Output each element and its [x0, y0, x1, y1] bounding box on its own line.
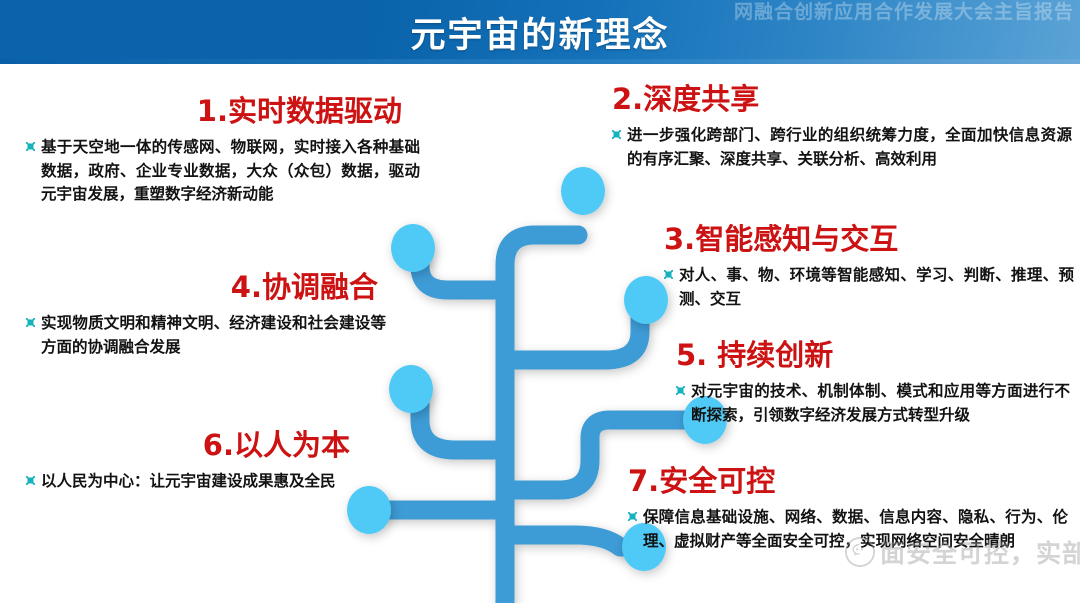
tree-branch-7 — [505, 535, 645, 547]
slide-header-banner: 网融合创新应用合作发展大会主旨报告 元宇宙的新理念 — [0, 0, 1080, 64]
section-heading-4: 4.协调融合 — [26, 272, 386, 302]
tree-node-3 — [624, 276, 668, 324]
section-heading-3: 3.智能感知与交互 — [664, 224, 1074, 254]
section-body-6: 以人民为中心：让元宇宙建设成果惠及全民 — [26, 470, 356, 493]
bullet-diamond-icon — [676, 386, 685, 395]
section-heading-5: 5. 持续创新 — [676, 340, 1070, 370]
bullet-diamond-icon — [664, 270, 673, 279]
tree-node-2 — [561, 167, 605, 215]
tree-branch-4 — [420, 390, 505, 450]
section-body-text-1: 基于天空地一体的传感网、物联网，实时接入各种基础数据，政府、企业专业数据，大众（… — [41, 138, 420, 203]
tree-branch-2 — [505, 235, 578, 460]
slide-canvas: 网融合创新应用合作发展大会主旨报告 元宇宙的新理念 — [0, 0, 1080, 603]
bullet-diamond-icon — [628, 512, 637, 521]
section-heading-6: 6.以人为本 — [26, 430, 356, 460]
section-block-7: 7.安全可控 保障信息基础设施、网络、数据、信息内容、隐私、行为、伦理、虚拟财产… — [628, 466, 1068, 553]
section-block-6: 6.以人为本 以人民为中心：让元宇宙建设成果惠及全民 — [26, 430, 356, 494]
tree-branch-3 — [505, 308, 640, 360]
section-block-1: 1.实时数据驱动 基于天空地一体的传感网、物联网，实时接入各种基础数据，政府、企… — [26, 96, 420, 206]
tree-node-1 — [391, 224, 435, 272]
bullet-diamond-icon — [612, 130, 621, 139]
section-heading-7: 7.安全可控 — [628, 466, 1068, 496]
section-body-text-6: 以人民为中心：让元宇宙建设成果惠及全民 — [41, 472, 336, 490]
section-block-5: 5. 持续创新 对元宇宙的技术、机制体制、模式和应用等方面进行不断探索，引领数字… — [676, 340, 1070, 427]
bullet-diamond-icon — [26, 476, 35, 485]
section-body-text-3: 对人、事、物、环境等智能感知、学习、判断、推理、预测、交互 — [679, 266, 1074, 307]
section-body-2: 进一步强化跨部门、跨行业的组织统筹力度，全面加快信息资源的有序汇聚、深度共享、关… — [612, 124, 1072, 171]
section-body-1: 基于天空地一体的传感网、物联网，实时接入各种基础数据，政府、企业专业数据，大众（… — [26, 136, 420, 206]
section-body-text-7: 保障信息基础设施、网络、数据、信息内容、隐私、行为、伦理、虚拟财产等全面安全可控… — [643, 508, 1068, 549]
tree-node-4 — [389, 365, 433, 413]
bullet-diamond-icon — [26, 318, 35, 327]
section-block-3: 3.智能感知与交互 对人、事、物、环境等智能感知、学习、判断、推理、预测、交互 — [664, 224, 1074, 311]
page-title: 元宇宙的新理念 — [0, 0, 1080, 64]
section-body-text-4: 实现物质文明和精神文明、经济建设和社会建设等方面的协调融合发展 — [41, 314, 386, 355]
section-heading-1: 1.实时数据驱动 — [26, 96, 420, 126]
section-body-5: 对元宇宙的技术、机制体制、模式和应用等方面进行不断探索，引领数字经济发展方式转型… — [676, 380, 1070, 427]
section-body-3: 对人、事、物、环境等智能感知、学习、判断、推理、预测、交互 — [664, 264, 1074, 311]
bullet-diamond-icon — [26, 142, 35, 151]
section-body-7: 保障信息基础设施、网络、数据、信息内容、隐私、行为、伦理、虚拟财产等全面安全可控… — [628, 506, 1068, 553]
section-body-text-2: 进一步强化跨部门、跨行业的组织统筹力度，全面加快信息资源的有序汇聚、深度共享、关… — [627, 126, 1072, 167]
section-block-4: 4.协调融合 实现物质文明和精神文明、经济建设和社会建设等方面的协调融合发展 — [26, 272, 386, 359]
section-heading-2: 2.深度共享 — [612, 84, 1072, 114]
section-body-text-5: 对元宇宙的技术、机制体制、模式和应用等方面进行不断探索，引领数字经济发展方式转型… — [691, 382, 1070, 423]
tree-branch-1 — [420, 250, 505, 290]
section-body-4: 实现物质文明和精神文明、经济建设和社会建设等方面的协调融合发展 — [26, 312, 386, 359]
section-block-2: 2.深度共享 进一步强化跨部门、跨行业的组织统筹力度，全面加快信息资源的有序汇聚… — [612, 84, 1072, 171]
